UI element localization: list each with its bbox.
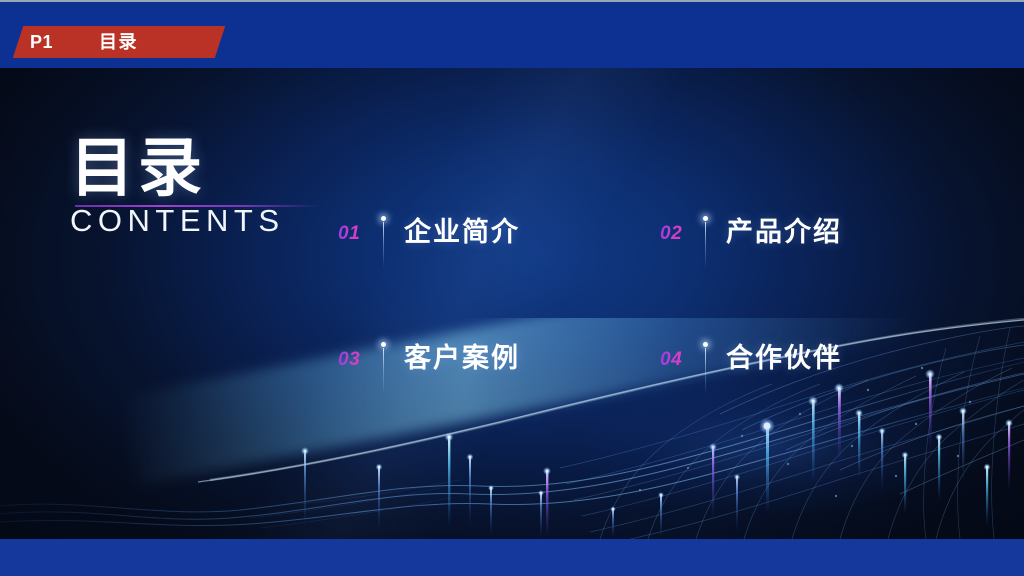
contents-menu-row: 03 客户案例 04 合作伙伴 [336, 332, 966, 458]
contents-item-label: 产品介绍 [726, 212, 842, 252]
contents-menu: 01 企业简介 02 产品介绍 03 [336, 206, 966, 458]
contents-item-label: 客户案例 [404, 338, 520, 378]
divider-line [383, 348, 384, 394]
contents-item-number: 02 [660, 223, 682, 245]
contents-item-divider [704, 342, 707, 394]
contents-item-number: 01 [338, 223, 360, 245]
divider-dot-icon [381, 342, 386, 347]
contents-item-03[interactable]: 03 客户案例 [336, 332, 636, 394]
presentation-slide: P1 目录 [0, 0, 1024, 576]
contents-item-label: 合作伙伴 [726, 338, 842, 378]
page-title: 目录 [70, 134, 330, 202]
divider-line [705, 222, 706, 268]
contents-item-divider [704, 216, 707, 268]
divider-dot-icon [703, 342, 708, 347]
contents-menu-row: 01 企业简介 02 产品介绍 [336, 206, 966, 332]
contents-item-divider [382, 216, 385, 268]
divider-dot-icon [703, 216, 708, 221]
divider-line [383, 222, 384, 268]
contents-item-01[interactable]: 01 企业简介 [336, 206, 636, 268]
page-tag-label: P1 [30, 29, 86, 55]
top-edge-hairline [0, 0, 1024, 2]
contents-item-number: 04 [660, 349, 682, 371]
contents-item-divider [382, 342, 385, 394]
contents-item-label: 企业简介 [404, 212, 520, 252]
contents-title-block: 目录 CONTENTS [70, 134, 330, 238]
contents-item-number: 03 [338, 349, 360, 371]
divider-line [705, 348, 706, 394]
page-subtitle: CONTENTS [70, 204, 330, 238]
contents-item-04[interactable]: 04 合作伙伴 [658, 332, 958, 394]
contents-item-02[interactable]: 02 产品介绍 [658, 206, 958, 268]
divider-dot-icon [381, 216, 386, 221]
section-tag-label: 目录 [99, 29, 138, 55]
slide-footer-bar [0, 539, 1024, 576]
